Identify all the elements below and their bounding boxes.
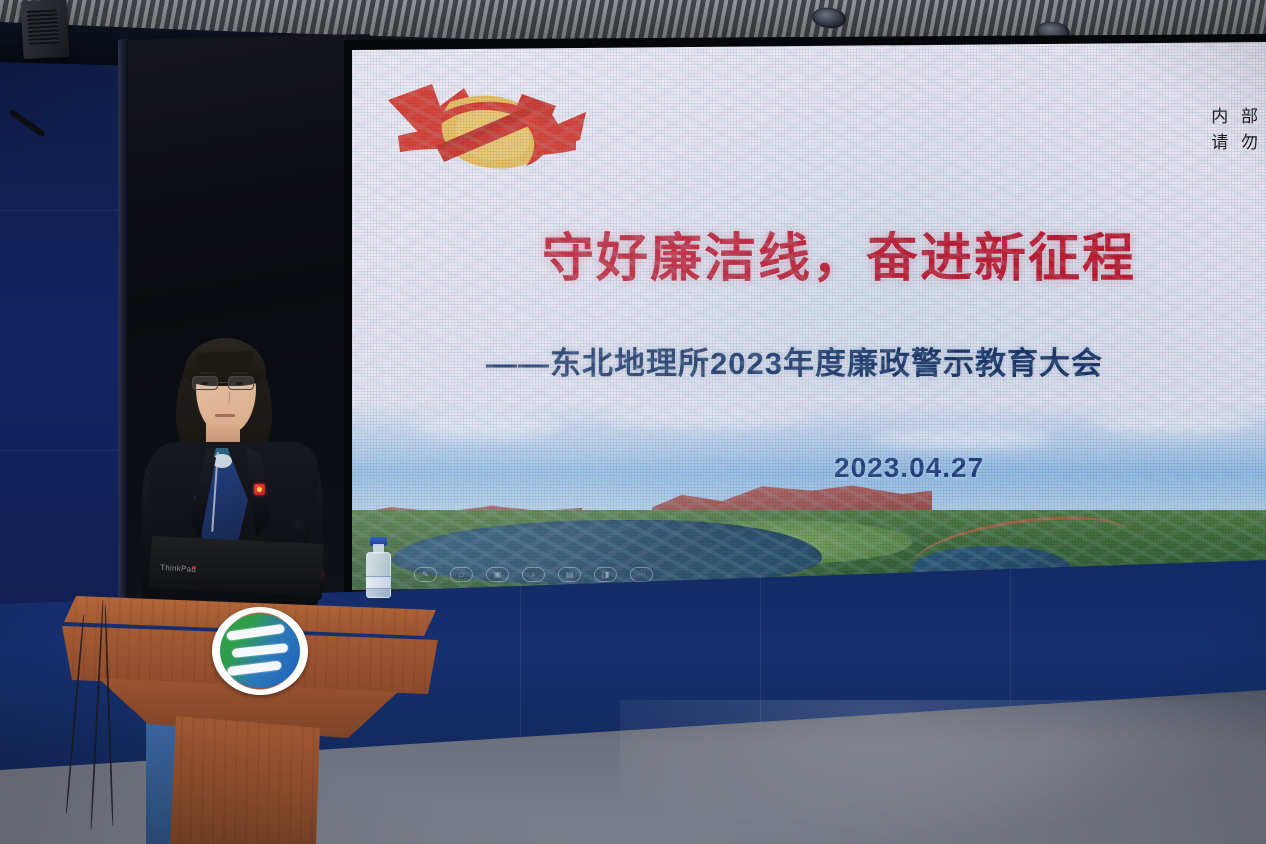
recess-edge bbox=[118, 34, 128, 610]
zoom-magnifier-icon[interactable]: ⌕ bbox=[522, 567, 545, 582]
cpc-party-emblem bbox=[380, 66, 595, 186]
powerpoint-presenter-toolbar[interactable]: ✎ ▱ ▣ ⌕ ▤ ◨ ⋯ bbox=[414, 567, 653, 582]
speaker-grill-icon bbox=[27, 9, 59, 45]
speaker-mouth bbox=[215, 414, 235, 417]
speaker-eye-right bbox=[236, 382, 243, 385]
photo-top-fade bbox=[352, 398, 1266, 590]
notice-line-2: 请 勿 bbox=[1211, 130, 1262, 156]
presentation-slide: 内 部 请 勿 守好廉洁线，奋进新征程 ——东北地理所2023年度廉政警示教育大… bbox=[352, 42, 1266, 590]
led-display[interactable]: 内 部 请 勿 守好廉洁线，奋进新征程 ——东北地理所2023年度廉政警示教育大… bbox=[352, 42, 1266, 590]
laptop[interactable]: ThinkPad bbox=[148, 536, 324, 596]
laser-pointer-icon[interactable]: ▱ bbox=[450, 567, 473, 582]
ceiling-speaker bbox=[21, 0, 70, 59]
party-pin-star bbox=[257, 487, 262, 492]
microphone-head bbox=[292, 520, 304, 530]
laptop-brand-label: ThinkPad bbox=[160, 563, 197, 574]
speaker-nose bbox=[222, 392, 230, 404]
floor-reflection bbox=[620, 700, 1266, 840]
speaker-eyebrow-right bbox=[232, 372, 248, 374]
pen-icon[interactable]: ✎ bbox=[414, 567, 437, 582]
bottle-label bbox=[366, 576, 391, 589]
slide-date: 2023.04.27 bbox=[834, 452, 984, 484]
conference-photo-scene: 内 部 请 勿 守好廉洁线，奋进新征程 ——东北地理所2023年度廉政警示教育大… bbox=[0, 0, 1266, 844]
notice-line-1: 内 部 bbox=[1211, 104, 1262, 130]
water-bottle[interactable] bbox=[366, 552, 391, 598]
eraser-icon[interactable]: ◨ bbox=[594, 567, 617, 582]
speaker-eyebrow-left bbox=[199, 372, 215, 374]
laptop-logo-dot bbox=[192, 566, 195, 569]
more-options-icon[interactable]: ⋯ bbox=[630, 567, 653, 582]
slide-title: 守好廉洁线，奋进新征程 bbox=[542, 216, 1136, 291]
speaker-eye-left bbox=[201, 382, 208, 385]
confidential-notice: 内 部 请 勿 bbox=[1211, 104, 1262, 155]
slide-thumbnails-icon[interactable]: ▣ bbox=[486, 567, 509, 582]
campus-landscape-photo bbox=[352, 398, 1266, 590]
podium-pedestal bbox=[170, 716, 320, 844]
slide-subtitle: ——东北地理所2023年度廉政警示教育大会 bbox=[486, 338, 1103, 383]
subtitles-icon[interactable]: ▤ bbox=[558, 567, 581, 582]
globe-logo-core bbox=[219, 613, 302, 690]
